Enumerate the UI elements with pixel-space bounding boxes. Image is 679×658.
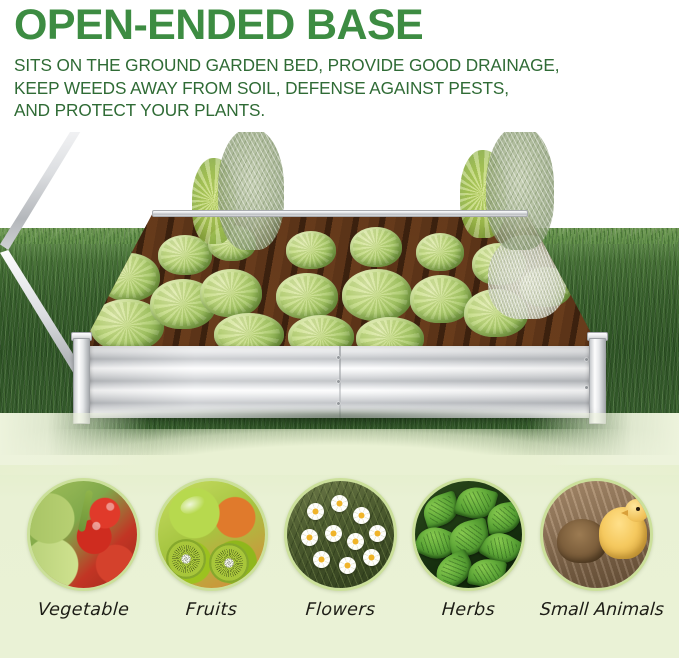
category-label: Vegetable bbox=[26, 600, 140, 620]
rivet bbox=[337, 380, 340, 383]
plant-cluster bbox=[288, 315, 354, 350]
subtitle-line-3: AND PROTECT YOUR PLANTS. bbox=[14, 99, 679, 122]
fruits-image bbox=[158, 481, 265, 588]
chick-beak bbox=[621, 510, 628, 516]
mint-leaf bbox=[467, 556, 507, 590]
category-list: Vegetable Fruits bbox=[0, 478, 679, 638]
daisy-flower bbox=[353, 507, 370, 524]
plant-cluster bbox=[342, 269, 412, 321]
category-label: Small Animals bbox=[539, 600, 653, 620]
plant-cluster bbox=[416, 233, 464, 271]
corrugated-front-panel bbox=[80, 346, 600, 418]
rivet bbox=[337, 356, 340, 359]
category-panel: Vegetable Fruits bbox=[0, 455, 679, 658]
flowers-image bbox=[287, 481, 394, 588]
category-label: Flowers bbox=[283, 600, 397, 620]
fruits-photo-icon bbox=[155, 478, 268, 591]
category-item-small-animals[interactable]: Small Animals bbox=[540, 478, 653, 620]
daisy-flower bbox=[363, 549, 380, 566]
product-feature-image: OPEN-ENDED BASE SITS ON THE GROUND GARDE… bbox=[0, 0, 679, 658]
page-title: OPEN-ENDED BASE bbox=[14, 2, 679, 48]
vegetable-image bbox=[30, 481, 137, 588]
chick-eye bbox=[636, 507, 640, 511]
small-animals-image bbox=[543, 481, 650, 588]
plant-cluster bbox=[350, 227, 402, 267]
plant-cluster bbox=[214, 313, 284, 350]
herbs-photo-icon bbox=[412, 478, 525, 591]
header: OPEN-ENDED BASE SITS ON THE GROUND GARDE… bbox=[0, 0, 679, 132]
apple-highlight bbox=[178, 493, 208, 518]
daisy-flower bbox=[369, 525, 386, 542]
flowers-photo-icon bbox=[284, 478, 397, 591]
daisy-flower bbox=[313, 551, 330, 568]
category-item-flowers[interactable]: Flowers bbox=[284, 478, 397, 620]
daisy-flower bbox=[347, 533, 364, 550]
bed-back-rail bbox=[152, 210, 528, 217]
rivet bbox=[585, 358, 588, 361]
plant-cluster bbox=[98, 253, 160, 301]
daisy-flower bbox=[307, 503, 324, 520]
tall-herb-sage bbox=[486, 126, 554, 250]
kiwi-slice bbox=[166, 539, 206, 579]
rivet bbox=[585, 386, 588, 389]
herbs-image bbox=[415, 481, 522, 588]
panel-edge-fade bbox=[0, 413, 679, 465]
plant-cluster bbox=[410, 275, 472, 323]
plant-cluster bbox=[276, 273, 338, 319]
daisy-flower bbox=[339, 557, 356, 574]
subtitle-line-1: SITS ON THE GROUND GARDEN BED, PROVIDE G… bbox=[14, 54, 679, 77]
category-item-vegetable[interactable]: Vegetable bbox=[27, 478, 140, 620]
tall-herb-sage bbox=[218, 128, 284, 250]
category-label: Fruits bbox=[154, 600, 268, 620]
plant-cluster bbox=[200, 269, 262, 317]
daisy-flower bbox=[301, 529, 318, 546]
daisy-flower bbox=[325, 525, 342, 542]
daisy-flower bbox=[331, 495, 348, 512]
plant-cluster bbox=[286, 231, 336, 269]
subtitle-line-2: KEEP WEEDS AWAY FROM SOIL, DEFENSE AGAIN… bbox=[14, 77, 679, 100]
kiwi-slice bbox=[209, 543, 249, 583]
rivet bbox=[337, 402, 340, 405]
category-item-fruits[interactable]: Fruits bbox=[155, 478, 268, 620]
pepper-stem bbox=[78, 489, 94, 532]
category-item-herbs[interactable]: Herbs bbox=[412, 478, 525, 620]
small-animals-photo-icon bbox=[540, 478, 653, 591]
vegetable-photo-icon bbox=[27, 478, 140, 591]
category-label: Herbs bbox=[411, 600, 525, 620]
